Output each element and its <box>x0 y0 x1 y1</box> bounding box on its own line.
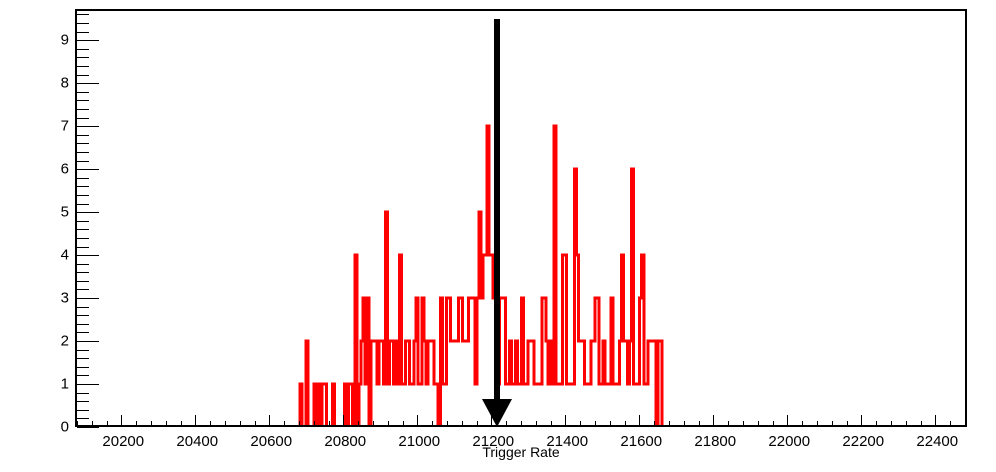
x-tick-minor <box>832 421 833 427</box>
x-tick-label: 21000 <box>398 433 440 450</box>
y-tick-minor <box>77 92 89 93</box>
x-tick-minor <box>388 421 389 427</box>
y-tick-label: 8 <box>61 75 69 92</box>
x-axis-title: Trigger Rate <box>482 444 559 460</box>
y-tick-minor <box>77 186 89 187</box>
x-tick-minor <box>373 421 374 427</box>
y-tick-major <box>77 255 99 256</box>
x-tick-major <box>787 415 788 427</box>
x-tick-minor <box>921 421 922 427</box>
x-tick-minor <box>773 421 774 427</box>
y-tick-major <box>77 169 99 170</box>
y-tick-major <box>77 298 99 299</box>
y-tick-major <box>77 427 99 428</box>
x-tick-minor <box>891 421 892 427</box>
y-tick-minor <box>77 221 89 222</box>
x-tick-minor <box>950 421 951 427</box>
x-tick-major <box>417 415 418 427</box>
y-tick-minor <box>77 264 89 265</box>
y-tick-label: 0 <box>61 419 69 436</box>
x-tick-minor <box>906 421 907 427</box>
x-tick-minor <box>255 421 256 427</box>
y-tick-minor <box>77 135 89 136</box>
y-tick-major <box>77 341 99 342</box>
y-tick-label: 2 <box>61 333 69 350</box>
y-tick-label: 7 <box>61 118 69 135</box>
x-tick-label: 22200 <box>842 433 884 450</box>
x-tick-minor <box>876 421 877 427</box>
x-tick-minor <box>684 421 685 427</box>
y-tick-minor <box>77 418 89 419</box>
x-tick-major <box>269 415 270 427</box>
y-tick-minor <box>77 109 89 110</box>
x-tick-label: 20800 <box>324 433 366 450</box>
x-tick-minor <box>329 421 330 427</box>
histogram-outline <box>300 126 664 425</box>
y-tick-label: 1 <box>61 376 69 393</box>
y-tick-minor <box>77 289 89 290</box>
y-tick-major <box>77 384 99 385</box>
x-tick-minor <box>358 421 359 427</box>
x-tick-minor <box>210 421 211 427</box>
x-tick-minor <box>225 421 226 427</box>
x-tick-minor <box>625 421 626 427</box>
y-tick-minor <box>77 57 89 58</box>
x-tick-minor <box>580 421 581 427</box>
y-tick-minor <box>77 143 89 144</box>
y-tick-minor <box>77 32 89 33</box>
x-tick-minor <box>447 421 448 427</box>
x-tick-minor <box>462 421 463 427</box>
y-tick-minor <box>77 229 89 230</box>
y-tick-minor <box>77 14 89 15</box>
x-tick-major <box>713 415 714 427</box>
y-tick-major <box>77 40 99 41</box>
x-tick-minor <box>654 421 655 427</box>
x-tick-major <box>195 415 196 427</box>
plot-frame <box>75 9 967 427</box>
y-tick-label: 9 <box>61 32 69 49</box>
x-tick-minor <box>728 421 729 427</box>
y-tick-minor <box>77 375 89 376</box>
y-tick-minor <box>77 75 89 76</box>
x-tick-minor <box>284 421 285 427</box>
x-tick-minor <box>107 421 108 427</box>
x-tick-label: 20600 <box>250 433 292 450</box>
x-tick-minor <box>136 421 137 427</box>
x-tick-minor <box>551 421 552 427</box>
plot-area <box>77 11 965 425</box>
y-tick-minor <box>77 401 89 402</box>
x-tick-minor <box>181 421 182 427</box>
y-tick-minor <box>77 272 89 273</box>
x-tick-minor <box>240 421 241 427</box>
x-tick-major <box>343 415 344 427</box>
x-tick-label: 21800 <box>694 433 736 450</box>
x-tick-minor <box>403 421 404 427</box>
y-tick-minor <box>77 204 89 205</box>
y-tick-minor <box>77 410 89 411</box>
x-tick-minor <box>758 421 759 427</box>
y-tick-minor <box>77 118 89 119</box>
x-tick-minor <box>595 421 596 427</box>
x-tick-minor <box>847 421 848 427</box>
y-tick-label: 4 <box>61 247 69 264</box>
y-tick-minor <box>77 307 89 308</box>
x-tick-major <box>861 415 862 427</box>
x-tick-minor <box>166 421 167 427</box>
x-tick-label: 21600 <box>620 433 662 450</box>
y-tick-label: 6 <box>61 161 69 178</box>
y-tick-minor <box>77 332 89 333</box>
arrow-shaft <box>494 19 500 401</box>
y-tick-minor <box>77 49 89 50</box>
x-tick-minor <box>743 421 744 427</box>
y-tick-label: 3 <box>61 290 69 307</box>
y-tick-minor <box>77 350 89 351</box>
x-tick-minor <box>477 421 478 427</box>
y-tick-minor <box>77 238 89 239</box>
y-tick-minor <box>77 152 89 153</box>
y-tick-minor <box>77 161 89 162</box>
x-tick-minor <box>314 421 315 427</box>
y-tick-minor <box>77 315 89 316</box>
y-tick-minor <box>77 393 89 394</box>
x-tick-minor <box>610 421 611 427</box>
y-tick-label: 5 <box>61 204 69 221</box>
x-tick-label: 20200 <box>102 433 144 450</box>
x-tick-label: 22400 <box>916 433 958 450</box>
x-tick-major <box>121 415 122 427</box>
y-tick-minor <box>77 100 89 101</box>
x-tick-minor <box>817 421 818 427</box>
y-tick-minor <box>77 23 89 24</box>
y-tick-minor <box>77 358 89 359</box>
x-tick-minor <box>699 421 700 427</box>
x-tick-label: 22000 <box>768 433 810 450</box>
y-tick-minor <box>77 367 89 368</box>
x-tick-minor <box>669 421 670 427</box>
y-tick-major <box>77 126 99 127</box>
arrow-head-icon <box>482 399 512 427</box>
x-tick-minor <box>802 421 803 427</box>
x-tick-major <box>565 415 566 427</box>
x-tick-major <box>639 415 640 427</box>
y-tick-minor <box>77 247 89 248</box>
x-tick-major <box>935 415 936 427</box>
x-tick-minor <box>432 421 433 427</box>
y-tick-minor <box>77 178 89 179</box>
y-tick-minor <box>77 324 89 325</box>
y-tick-minor <box>77 66 89 67</box>
x-tick-minor <box>965 421 966 427</box>
x-tick-minor <box>151 421 152 427</box>
x-tick-label: 20400 <box>176 433 218 450</box>
y-tick-minor <box>77 195 89 196</box>
x-tick-minor <box>521 421 522 427</box>
y-tick-major <box>77 83 99 84</box>
y-tick-major <box>77 212 99 213</box>
y-tick-minor <box>77 281 89 282</box>
histogram-series <box>77 11 965 425</box>
root-canvas: Current: 21209.94 Hz 2020020400206002080… <box>0 0 996 472</box>
x-tick-minor <box>299 421 300 427</box>
x-tick-minor <box>536 421 537 427</box>
